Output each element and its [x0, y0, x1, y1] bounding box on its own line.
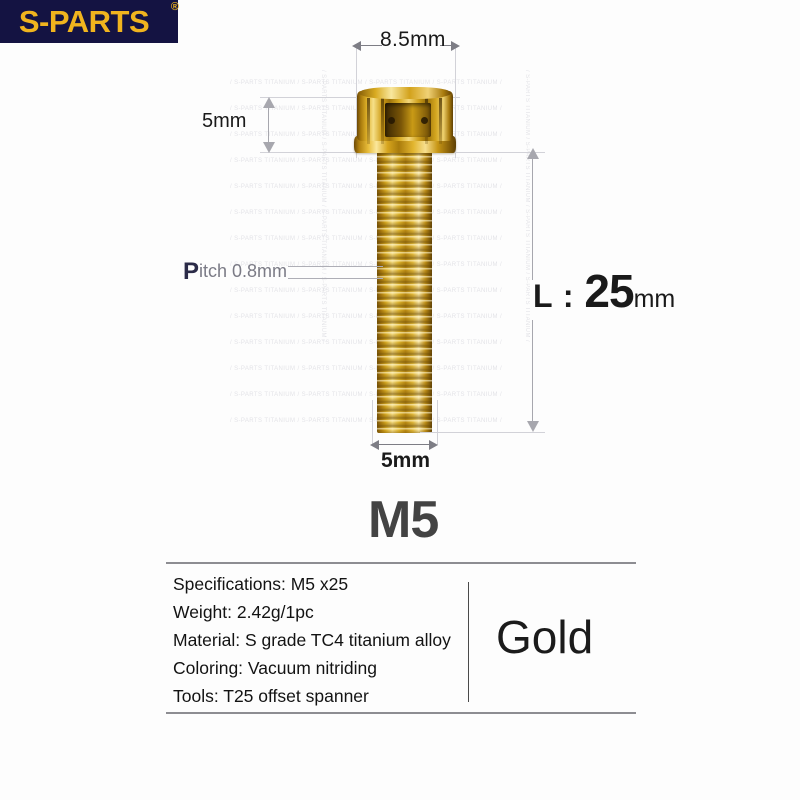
- spec-line-tools: Tools: T25 offset spanner: [173, 682, 473, 710]
- dimension-arrow-diameter: [374, 444, 435, 445]
- leader-line-pitch-lower: [288, 278, 383, 279]
- thread-size-title: M5: [368, 490, 438, 550]
- guide-line-diameter-left: [372, 400, 373, 445]
- pitch-text: itch 0.8mm: [199, 261, 287, 281]
- bolt-threaded-shaft: [377, 148, 432, 433]
- bolt-head-top-rim: [359, 87, 451, 99]
- length-prefix: L :: [533, 278, 584, 314]
- leader-line-pitch-upper: [288, 266, 383, 267]
- length-unit: mm: [634, 285, 676, 313]
- specification-panel: Specifications: M5 x25 Weight: 2.42g/1pc…: [166, 562, 636, 714]
- arrowhead-down-icon: [527, 421, 539, 432]
- thread-pattern: [377, 148, 432, 433]
- arrowhead-left-icon: [352, 41, 361, 51]
- brand-logo-text: S-PARTS: [19, 4, 159, 40]
- dimension-arrow-length-upper: [532, 152, 533, 280]
- dimension-label-head-height: 5mm: [202, 110, 246, 133]
- head-facet-edge: [381, 98, 384, 144]
- socket-notch: [388, 117, 395, 124]
- specification-list: Specifications: M5 x25 Weight: 2.42g/1pc…: [173, 570, 473, 710]
- watermark-column: / S-PARTS TITANIUM / S-PARTS TITANIUM / …: [320, 70, 326, 342]
- length-value: 25: [584, 265, 633, 317]
- head-facet-edge: [367, 98, 370, 144]
- guide-line-length-bottom: [420, 432, 545, 433]
- arrowhead-down-icon: [263, 142, 275, 153]
- dimension-label-head-width: 8.5mm: [380, 28, 446, 52]
- spec-line-material: Material: S grade TC4 titanium alloy: [173, 626, 473, 654]
- spec-line-coloring: Coloring: Vacuum nitriding: [173, 654, 473, 682]
- dimension-label-pitch: Pitch 0.8mm: [183, 258, 287, 286]
- spec-line-weight: Weight: 2.42g/1pc: [173, 598, 473, 626]
- dimension-label-length: L : 25mm: [533, 264, 675, 318]
- registered-trademark-icon: ®: [171, 1, 179, 13]
- brand-logo: S-PARTS ®: [0, 0, 178, 43]
- socket-notch: [421, 117, 428, 124]
- arrowhead-up-icon: [527, 148, 539, 159]
- bolt-head: [354, 86, 456, 154]
- product-spec-sheet: / S-PARTS TITANIUM / S-PARTS TITANIUM / …: [0, 0, 800, 800]
- bolt-illustration: [353, 86, 457, 436]
- arrowhead-up-icon: [263, 97, 275, 108]
- arrowhead-right-icon: [429, 440, 438, 450]
- color-name-label: Gold: [496, 610, 593, 664]
- dimension-label-diameter: 5mm: [381, 449, 430, 473]
- arrowhead-right-icon: [451, 41, 460, 51]
- torx-socket: [385, 103, 431, 137]
- spec-line-specifications: Specifications: M5 x25: [173, 570, 473, 598]
- guide-line-diameter-right: [437, 400, 438, 445]
- arrowhead-left-icon: [370, 440, 379, 450]
- head-facet-edge: [439, 98, 442, 144]
- dimension-arrow-head-width-left: [360, 45, 382, 46]
- panel-divider: [468, 582, 469, 702]
- watermark-column: / S-PARTS TITANIUM / S-PARTS TITANIUM / …: [524, 70, 530, 342]
- pitch-initial: P: [183, 258, 199, 285]
- dimension-arrow-length-lower: [532, 320, 533, 430]
